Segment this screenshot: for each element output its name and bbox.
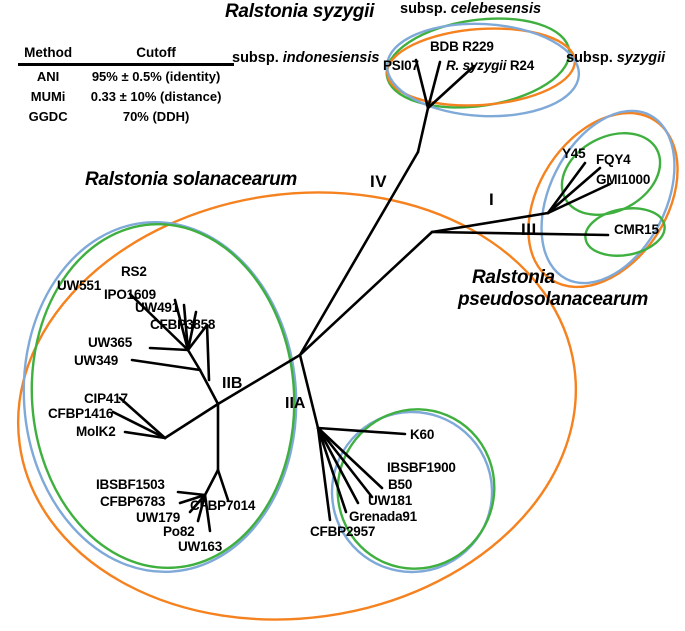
branch-IIA-node (300, 355, 318, 428)
species-title-syzygii: Ralstonia syzygii (225, 2, 374, 21)
branch-IIB-left-node (165, 404, 218, 438)
strain-label-PSI07: PSI07 (383, 59, 419, 73)
strain-label-RsyzygiiR24-italic: R. syzygii (446, 58, 506, 73)
strain-label-K60: K60 (410, 428, 434, 442)
phylotype-label-IV: IV (370, 173, 387, 190)
strain-label-CMR15: CMR15 (614, 223, 659, 237)
ellipse-IIA-ggdc (313, 385, 519, 593)
strain-label-CFBP3858: CFBP3858 (150, 318, 215, 332)
subsp-syzygii: subsp. syzygii (566, 51, 665, 66)
method-cutoff-legend: Method Cutoff ANI 95% ± 0.5% (identity) … (18, 44, 234, 126)
strain-label-IBSBF1503: IBSBF1503 (96, 478, 165, 492)
phylotype-label-III: III (521, 221, 537, 238)
strain-label-RsyzygiiR24: R. syzygii R24 (446, 59, 534, 73)
branch-IIB-CFBP3858-stem (207, 325, 209, 380)
ellipse-group-phylotype-IIA (309, 385, 519, 595)
strain-label-CIP417: CIP417 (84, 392, 128, 406)
species-title-pseudosolanacearum-line1: Ralstonia (472, 268, 555, 287)
branch-backbone-center (218, 232, 432, 404)
subsp-syzygii-prefix: subsp. (566, 50, 617, 66)
strain-label-CFBP1416: CFBP1416 (48, 407, 113, 421)
strain-label-BDBR229: BDB R229 (430, 40, 494, 54)
ellipse-IIB-mumi (12, 213, 308, 581)
legend-cutoff-mumi: 0.33 ± 10% (distance) (78, 86, 234, 106)
legend-cutoff-ani: 95% ± 0.5% (identity) (78, 65, 234, 87)
branch-backbone-IV (300, 152, 418, 355)
strain-label-CFBP6783: CFBP6783 (100, 495, 165, 509)
branch-IV-stem (418, 108, 428, 152)
branch-IIB-UW349 (132, 360, 200, 370)
strain-label-CFBP7014: CFBP7014 (190, 499, 255, 513)
strain-label-GMI1000: GMI1000 (596, 173, 650, 187)
phylotype-label-I: I (489, 191, 494, 208)
strain-label-RS2: RS2 (121, 265, 147, 279)
branch-IIB-CFBP7014 (218, 470, 228, 500)
subsp-indonesiensis: subsp. indonesiensis (232, 51, 379, 66)
legend-method-ggdc: GGDC (18, 106, 78, 126)
subsp-indonesiensis-prefix: subsp. (232, 50, 283, 66)
strain-label-Po82: Po82 (163, 525, 194, 539)
branch-IIB-IBSBF1503 (178, 492, 205, 495)
subsp-celebesensis-prefix: subsp. (400, 1, 451, 17)
legend-row-ani: ANI 95% ± 0.5% (identity) (18, 65, 234, 87)
phylogenetic-tree-figure: Method Cutoff ANI 95% ± 0.5% (identity) … (0, 0, 685, 631)
strain-label-MolK2: MolK2 (76, 425, 116, 439)
subsp-syzygii-name: syzygii (617, 50, 665, 66)
legend-cutoff-ggdc: 70% (DDH) (78, 106, 234, 126)
species-title-pseudosolanacearum-line2: pseudosolanacearum (458, 290, 648, 309)
branch-phylotypeIII-CMR15 (432, 232, 608, 235)
strain-label-CFBP2957: CFBP2957 (310, 525, 375, 539)
strain-label-UW179: UW179 (136, 511, 180, 525)
strain-label-UW349: UW349 (74, 354, 118, 368)
phylotype-label-IIB: IIB (222, 376, 242, 392)
strain-label-UW181: UW181 (368, 494, 412, 508)
strain-label-UW365: UW365 (88, 336, 132, 350)
legend-header-cutoff: Cutoff (78, 44, 234, 65)
branch-IIB-fan-node (188, 350, 200, 370)
strain-label-UW163: UW163 (178, 540, 222, 554)
subsp-celebesensis: subsp. celebesensis (400, 2, 541, 17)
phylotype-label-IIA: IIA (285, 396, 305, 412)
strain-label-IBSBF1900: IBSBF1900 (387, 461, 456, 475)
subsp-celebesensis-name: celebesensis (451, 1, 541, 17)
strain-label-Grenada91: Grenada91 (349, 510, 417, 524)
branch-IIB-UW365 (150, 348, 188, 350)
strain-label-UW491: UW491 (135, 301, 179, 315)
strain-label-B50: B50 (388, 478, 412, 492)
legend-header-method: Method (18, 44, 78, 65)
legend-row-mumi: MUMi 0.33 ± 10% (distance) (18, 86, 234, 106)
legend-header-row: Method Cutoff (18, 44, 234, 65)
branch-IIB-lower-node (205, 470, 218, 495)
strain-label-RsyzygiiR24-rest: R24 (506, 58, 534, 73)
ellipse-group-phylotype-IIB (12, 213, 308, 581)
legend-table: Method Cutoff ANI 95% ± 0.5% (identity) … (18, 44, 234, 126)
strain-label-Y45: Y45 (562, 147, 585, 161)
strain-label-FQY4: FQY4 (596, 153, 630, 167)
strain-label-UW551: UW551 (57, 279, 101, 293)
legend-row-ggdc: GGDC 70% (DDH) (18, 106, 234, 126)
branch-phylotypeI-FQY4 (548, 168, 600, 213)
legend-method-ani: ANI (18, 65, 78, 87)
species-title-solanacearum: Ralstonia solanacearum (85, 170, 297, 189)
legend-method-mumi: MUMi (18, 86, 78, 106)
subsp-indonesiensis-name: indonesiensis (283, 50, 380, 66)
